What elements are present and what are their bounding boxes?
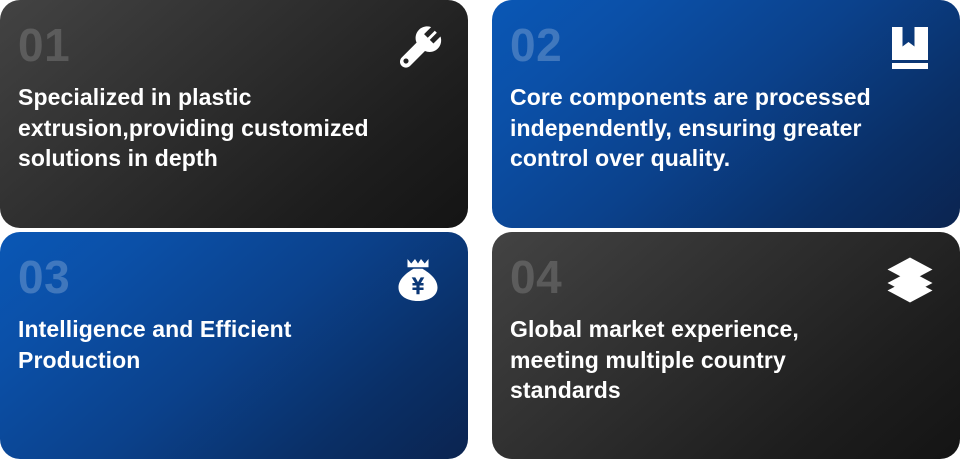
card-number-04: 04 [510, 254, 934, 300]
feature-card-04[interactable]: 04 Global market experience, meeting mul… [492, 232, 960, 459]
feature-card-01[interactable]: 01 Specialized in plastic extrusion,prov… [0, 0, 468, 228]
card-text-04: Global market experience, meeting multip… [510, 314, 934, 406]
card-number-01: 01 [18, 22, 442, 68]
feature-card-03[interactable]: 03 Intelligence and Efficient Production [0, 232, 468, 459]
card-number-02: 02 [510, 22, 934, 68]
feature-card-02[interactable]: 02 Core components are processed indepen… [492, 0, 960, 228]
card-text-03: Intelligence and Efficient Production [18, 314, 442, 375]
card-text-01: Specialized in plastic extrusion,providi… [18, 82, 442, 174]
card-number-03: 03 [18, 254, 442, 300]
feature-card-grid: 01 Specialized in plastic extrusion,prov… [0, 0, 960, 459]
card-text-02: Core components are processed independen… [510, 82, 934, 174]
